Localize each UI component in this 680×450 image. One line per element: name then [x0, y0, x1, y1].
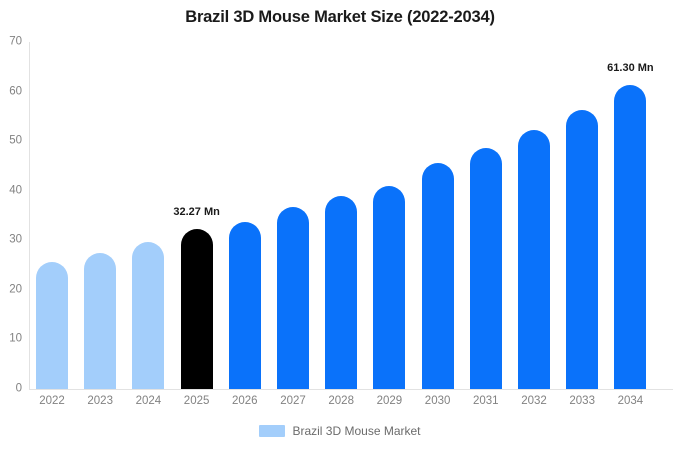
- x-axis-line: [29, 389, 673, 390]
- plot-area: [30, 42, 673, 389]
- x-axis-tick-label-2030: 2030: [425, 396, 451, 408]
- x-axis-tick-label-2029: 2029: [377, 396, 403, 408]
- bar-2032[interactable]: [518, 130, 550, 389]
- x-axis-tick-label-2032: 2032: [521, 396, 547, 408]
- bar-2031[interactable]: [470, 148, 502, 389]
- bar-2033[interactable]: [566, 110, 598, 389]
- y-axis-tick-label: 20: [0, 284, 22, 296]
- legend-label-brazil-3d-mouse-market: Brazil 3D Mouse Market: [292, 425, 420, 437]
- x-axis-tick-label-2026: 2026: [232, 396, 258, 408]
- bar-2029[interactable]: [373, 186, 405, 389]
- y-axis-tick-label: 30: [0, 235, 22, 247]
- chart-legend: Brazil 3D Mouse Market: [0, 425, 680, 437]
- x-axis-tick-label-2022: 2022: [39, 396, 65, 408]
- x-axis-tick-label-2034: 2034: [618, 396, 644, 408]
- y-axis-tick-label: 50: [0, 135, 22, 147]
- bar-2027[interactable]: [277, 207, 309, 389]
- x-axis-tick-label-2027: 2027: [280, 396, 306, 408]
- x-axis-tick-label-2031: 2031: [473, 396, 499, 408]
- x-axis-tick-label-2028: 2028: [328, 396, 354, 408]
- y-axis-tick-label: 0: [0, 383, 22, 395]
- x-axis-tick-label-2033: 2033: [569, 396, 595, 408]
- bar-2034[interactable]: [614, 85, 646, 389]
- x-axis-tick-label-2024: 2024: [136, 396, 162, 408]
- bar-value-label-2025: 32.27 Mn: [173, 207, 219, 218]
- bar-2025[interactable]: [181, 229, 213, 389]
- bar-2030[interactable]: [422, 163, 454, 389]
- bar-2024[interactable]: [132, 242, 164, 389]
- bar-2028[interactable]: [325, 196, 357, 389]
- y-axis-tick-label: 70: [0, 36, 22, 48]
- bar-2026[interactable]: [229, 222, 261, 389]
- y-axis-tick-label: 60: [0, 86, 22, 98]
- y-axis-tick-label: 40: [0, 185, 22, 197]
- bar-2022[interactable]: [36, 262, 68, 389]
- bar-2023[interactable]: [84, 253, 116, 389]
- bar-value-label-2034: 61.30 Mn: [607, 63, 653, 74]
- x-axis-tick-label-2023: 2023: [87, 396, 113, 408]
- chart-container: Brazil 3D Mouse Market Size (2022-2034) …: [0, 0, 680, 450]
- legend-swatch-brazil-3d-mouse-market: [259, 425, 285, 437]
- y-axis-tick-label: 10: [0, 334, 22, 346]
- x-axis-tick-label-2025: 2025: [184, 396, 210, 408]
- chart-title: Brazil 3D Mouse Market Size (2022-2034): [0, 8, 680, 27]
